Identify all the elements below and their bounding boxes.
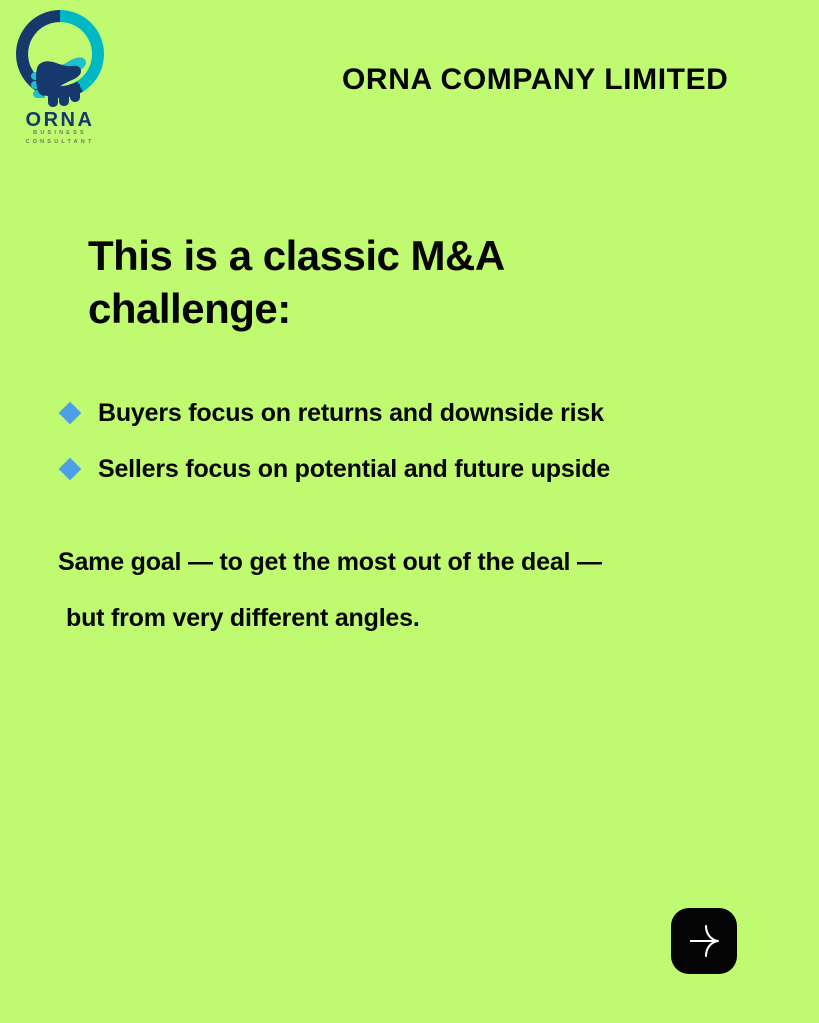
list-item: Sellers focus on potential and future up… bbox=[62, 441, 802, 497]
list-item: Buyers focus on returns and downside ris… bbox=[62, 385, 802, 441]
summary-line-1: Same goal — to get the most out of the d… bbox=[58, 550, 778, 575]
next-slide-button[interactable] bbox=[671, 908, 737, 974]
company-title: ORNA COMPANY LIMITED bbox=[342, 63, 728, 97]
bullet-text: Buyers focus on returns and downside ris… bbox=[98, 399, 604, 428]
handshake-circle-icon bbox=[4, 2, 116, 114]
bullet-text: Sellers focus on potential and future up… bbox=[98, 455, 610, 484]
diamond-bullet-icon bbox=[59, 402, 82, 425]
slide-headline: This is a classic M&A challenge: bbox=[88, 230, 688, 335]
bullet-list: Buyers focus on returns and downside ris… bbox=[62, 385, 802, 497]
brand-logo: ORNA BUSINESS CONSULTANT bbox=[4, 2, 116, 152]
logo-tagline-business: BUSINESS bbox=[4, 131, 116, 137]
slide-canvas: ORNA BUSINESS CONSULTANT ORNA COMPANY LI… bbox=[0, 0, 819, 1023]
summary-paragraph: Same goal — to get the most out of the d… bbox=[58, 550, 778, 631]
diamond-bullet-icon bbox=[59, 458, 82, 481]
arrow-right-icon bbox=[684, 921, 724, 961]
logo-wordmark: ORNA bbox=[4, 110, 116, 130]
logo-tagline-consultant: CONSULTANT bbox=[4, 140, 116, 146]
summary-line-2: but from very different angles. bbox=[58, 606, 778, 631]
